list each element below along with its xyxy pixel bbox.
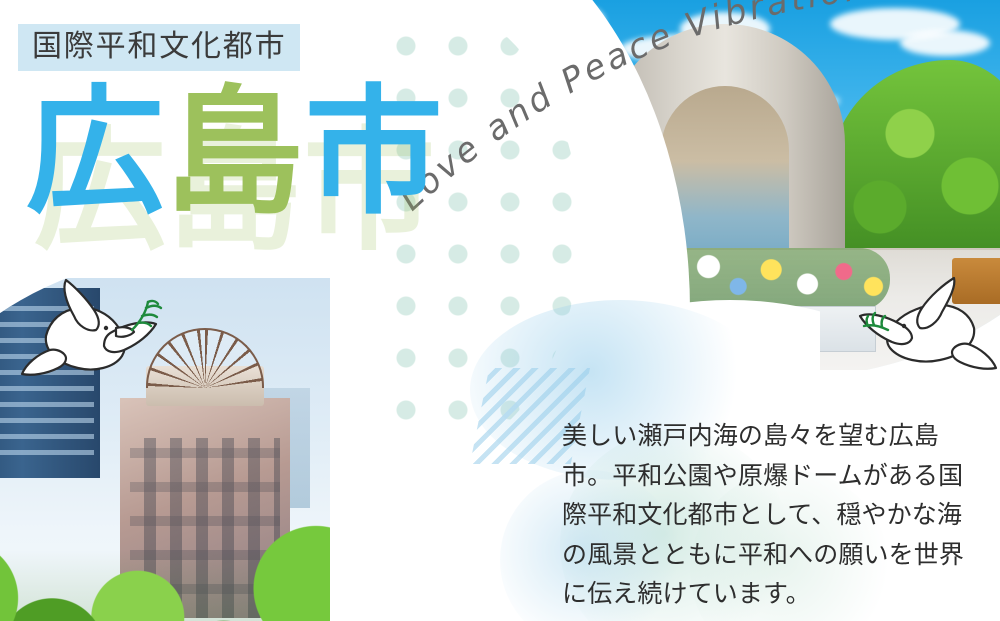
- city-title-char-3: 市: [305, 76, 444, 230]
- city-title-char-2: 島: [165, 76, 304, 230]
- dove-icon: [856, 272, 1000, 384]
- description-paragraph: 美しい瀬戸内海の島々を望む広島市。平和公園や原爆ドームがある国際平和文化都市とし…: [562, 417, 982, 615]
- city-title-char-1: 広: [26, 76, 165, 230]
- peace-city-badge: 国際平和文化都市: [18, 24, 300, 71]
- page-title: 広島市: [26, 84, 444, 222]
- city-title-block: 広島市 広島市: [26, 84, 446, 294]
- dove-icon: [16, 276, 184, 394]
- poster-canvas: Love and Peace Vibration 国際平和文化都市 広島市 広島…: [0, 0, 1000, 621]
